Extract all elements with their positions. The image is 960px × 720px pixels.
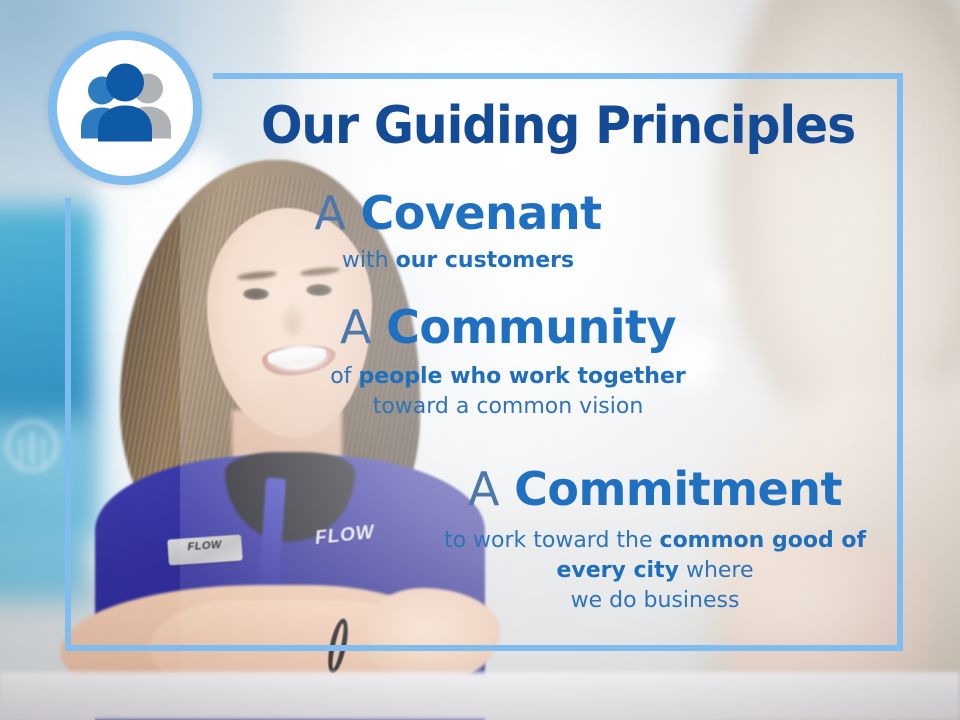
principle-community-article: A xyxy=(340,300,371,354)
banner-graphic: FLOW FLOW xyxy=(0,0,960,720)
principle-community: A Community of people who work together … xyxy=(283,300,733,422)
principle-covenant-detail-plain: with xyxy=(342,248,396,273)
subject-eye-left xyxy=(243,288,269,300)
principle-covenant-word: Covenant xyxy=(361,186,602,240)
principle-commitment-heading: A Commitment xyxy=(430,462,880,516)
principle-commitment-detail-line2: we do business xyxy=(571,588,740,613)
frame-border-top xyxy=(213,73,903,79)
principle-covenant-article: A xyxy=(314,186,345,240)
principle-commitment: A Commitment to work toward the common g… xyxy=(430,462,880,616)
principle-community-detail-plain: of xyxy=(330,364,358,389)
subject-name-badge-label: FLOW xyxy=(167,538,242,554)
foreground-person-hair-highlight xyxy=(760,0,960,420)
frame-border-right xyxy=(897,73,903,651)
subject-name-badge: FLOW xyxy=(167,534,243,565)
page-title: Our Guiding Principles xyxy=(234,96,883,156)
desk-surface xyxy=(0,672,960,720)
subject-eye-right xyxy=(306,284,332,296)
principle-community-word: Community xyxy=(386,300,676,354)
people-group-icon xyxy=(71,64,179,153)
principle-covenant-heading: A Covenant xyxy=(243,186,673,240)
frame-border-bottom xyxy=(65,645,903,651)
principle-commitment-article: A xyxy=(468,462,499,516)
principle-covenant-detail: with our customers xyxy=(243,246,673,276)
principle-commitment-word: Commitment xyxy=(514,462,842,516)
principle-community-detail: of people who work together toward a com… xyxy=(283,362,733,422)
principle-community-detail-bold: people who work together xyxy=(358,364,685,389)
people-badge xyxy=(48,31,202,185)
principle-commitment-detail-plain-2: where xyxy=(679,558,754,583)
principle-commitment-detail: to work toward the common good of every … xyxy=(430,526,880,616)
frame-border-left xyxy=(65,198,71,651)
principle-community-heading: A Community xyxy=(283,300,733,354)
principle-commitment-detail-plain: to work toward the xyxy=(444,528,660,553)
principle-covenant: A Covenant with our customers xyxy=(243,186,673,276)
principle-covenant-detail-bold: our customers xyxy=(396,248,575,273)
principle-community-detail-line2: toward a common vision xyxy=(373,394,644,419)
